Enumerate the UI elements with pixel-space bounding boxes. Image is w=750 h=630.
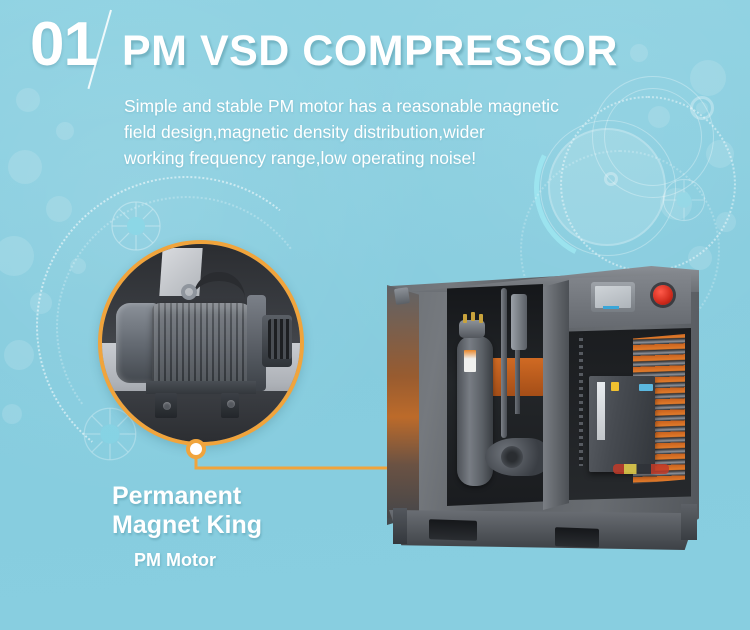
brass-nipple [463, 314, 467, 323]
callout-node-dot [186, 439, 206, 459]
motor-coupler [268, 319, 292, 359]
forklift-slot [429, 519, 477, 541]
bokeh-dot [8, 150, 42, 184]
base-foot [681, 504, 697, 540]
inverter-label-strip [597, 382, 605, 440]
brass-nipple [479, 314, 483, 323]
bokeh-dot [706, 140, 734, 168]
bokeh-dot [16, 88, 40, 112]
cabinet-hinge [394, 287, 410, 305]
tech-ring [690, 96, 714, 120]
subtitle-text: Simple and stable PM motor has a reasona… [124, 94, 644, 172]
hmi-status-bar [603, 306, 619, 309]
caption-line-2: Magnet King [112, 511, 412, 540]
brass-nipple [471, 312, 475, 321]
caption-block: Permanent Magnet King PM Motor [112, 482, 412, 571]
emergency-stop-button[interactable] [653, 285, 673, 305]
bokeh-dot [716, 212, 736, 232]
cable-chain [579, 334, 583, 466]
bokeh-dot [4, 340, 34, 370]
hmi-touch-panel[interactable] [591, 282, 635, 312]
motor-floor [102, 391, 300, 442]
air-end-hub [501, 446, 523, 468]
motor-eyebolt-icon [181, 284, 197, 300]
bokeh-dot [648, 106, 670, 128]
motor-scene [102, 244, 300, 442]
warning-sticker-icon [611, 382, 619, 391]
page-title: PM VSD COMPRESSOR [122, 30, 618, 73]
center-pillar [543, 280, 569, 510]
wiring-harness [613, 464, 669, 474]
tech-circle [696, 102, 708, 114]
bokeh-dot [30, 292, 52, 314]
atom-icon [660, 176, 708, 224]
vertical-pipe [501, 288, 507, 438]
bokeh-dot [660, 188, 692, 220]
bokeh-dot [56, 122, 74, 140]
bokeh-dot [70, 258, 86, 274]
banner-stage: 01 PM VSD COMPRESSOR Simple and stable P… [0, 0, 750, 630]
section-number-row: 01 [30, 14, 97, 76]
brand-badge [639, 384, 653, 391]
motor-body [152, 303, 255, 384]
bokeh-dot [630, 44, 648, 62]
hmi-screen[interactable] [595, 286, 631, 308]
air-filter [511, 294, 527, 350]
tank-warning-label [464, 350, 476, 372]
subtitle-line-3: working frequency range,low operating no… [124, 146, 644, 172]
bokeh-dot [2, 404, 22, 424]
bokeh-dot [0, 236, 34, 276]
caption-subtitle: PM Motor [134, 550, 412, 571]
caption-line-1: Permanent [112, 482, 412, 511]
forklift-slot [555, 527, 599, 548]
section-number: 01 [30, 14, 97, 76]
tech-ring [604, 172, 618, 186]
bokeh-dot [46, 196, 72, 222]
pm-motor-inset-photo [98, 240, 304, 446]
subtitle-line-1: Simple and stable PM motor has a reasona… [124, 94, 644, 120]
vsd-compressor-photo [365, 258, 725, 578]
subtitle-line-2: field design,magnetic density distributi… [124, 120, 644, 146]
bokeh-dot [690, 60, 726, 96]
